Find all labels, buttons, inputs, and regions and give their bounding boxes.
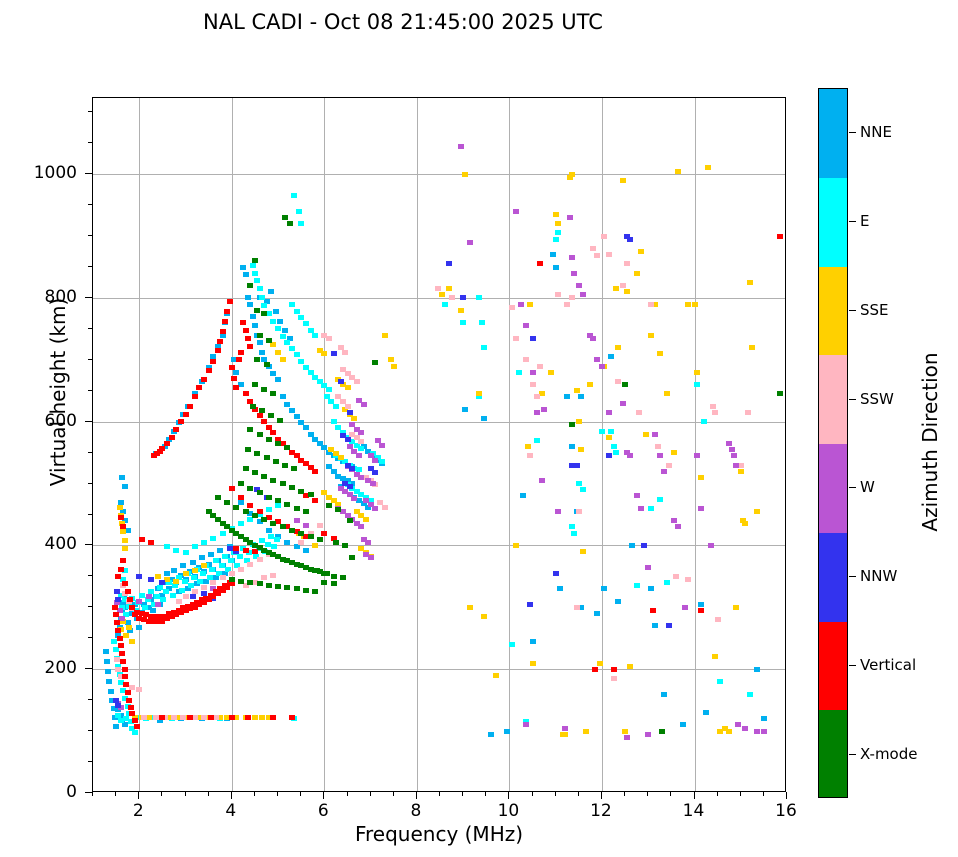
echo-pixel-x-mode — [266, 338, 272, 343]
echo-pixel-vertical — [159, 715, 165, 720]
echo-pixel-x-mode — [257, 581, 263, 586]
echo-pixel-sse — [363, 517, 369, 522]
echo-pixel-nne — [245, 295, 251, 300]
echo-pixel-sse — [726, 729, 732, 734]
echo-pixel-ssw — [606, 252, 612, 257]
echo-pixel-vertical — [122, 667, 128, 672]
echo-pixel-e — [170, 593, 176, 598]
colorbar-label-vertical: Vertical — [860, 656, 916, 674]
echo-pixel-ssw — [685, 577, 691, 582]
echo-pixel-w — [634, 493, 640, 498]
echo-pixel-x-mode — [270, 478, 276, 483]
echo-pixel-vertical — [206, 368, 212, 373]
echo-pixel-sse — [742, 521, 748, 526]
echo-pixel-nne — [190, 560, 196, 565]
echo-pixel-nne — [289, 408, 295, 413]
echo-pixel-sse — [280, 357, 286, 362]
echo-pixel-vertical — [222, 319, 228, 324]
echo-pixel-e — [553, 237, 559, 242]
echo-pixel-w — [361, 402, 367, 407]
echo-pixel-x-mode — [229, 577, 235, 582]
echo-pixel-vertical — [120, 558, 126, 563]
echo-pixel-nne — [481, 416, 487, 421]
echo-pixel-nnw — [666, 623, 672, 628]
echo-pixel-nne — [754, 667, 760, 672]
echo-pixel-nnw — [460, 295, 466, 300]
echo-pixel-ssw — [576, 509, 582, 514]
echo-pixel-ssw — [655, 444, 661, 449]
echo-pixel-x-mode — [254, 308, 260, 313]
echo-pixel-vertical — [134, 724, 140, 729]
echo-pixel-vertical — [257, 413, 263, 418]
echo-pixel-e — [326, 387, 332, 392]
y-tick-minor — [88, 328, 92, 329]
echo-pixel-nne — [326, 464, 332, 469]
echo-pixel-e — [571, 531, 577, 536]
echo-pixel-e — [228, 558, 234, 563]
echo-pixel-w — [729, 447, 735, 452]
echo-pixel-nnw — [347, 410, 353, 415]
echo-pixel-w — [645, 732, 651, 737]
x-tick-minor — [370, 792, 371, 796]
echo-pixel-vertical — [120, 659, 126, 664]
echo-pixel-w — [708, 543, 714, 548]
echo-pixel-sse — [183, 571, 189, 576]
echo-pixel-x-mode — [287, 221, 293, 226]
echo-pixel-x-mode — [257, 333, 263, 338]
echo-pixel-nne — [208, 552, 214, 557]
echo-pixel-x-mode — [224, 500, 230, 505]
echo-pixel-x-mode — [622, 382, 628, 387]
colorbar-tick — [849, 754, 856, 755]
echo-pixel-nne — [217, 548, 223, 553]
echo-pixel-w — [694, 453, 700, 458]
echo-pixel-vertical — [126, 698, 132, 703]
echo-pixel-x-mode — [247, 580, 253, 585]
echo-pixel-ssw — [530, 382, 536, 387]
echo-pixel-nnw — [574, 463, 580, 468]
colorbar-tick — [849, 576, 856, 577]
echo-pixel-sse — [692, 302, 698, 307]
echo-pixel-vertical — [159, 446, 165, 451]
echo-pixel-ssw — [601, 234, 607, 239]
colorbar-segment-nne — [819, 89, 847, 178]
echo-pixel-nne — [520, 493, 526, 498]
echo-pixel-w — [606, 410, 612, 415]
echo-pixel-w — [518, 302, 524, 307]
echo-pixel-e — [280, 334, 286, 339]
echo-pixel-ssw — [342, 350, 348, 355]
echo-pixel-ssw — [358, 439, 364, 444]
echo-pixel-nne — [629, 543, 635, 548]
echo-pixel-vertical — [245, 336, 251, 341]
echo-pixel-nne — [557, 586, 563, 591]
echo-pixel-vertical — [312, 498, 318, 503]
echo-pixel-x-mode — [331, 574, 337, 579]
echo-pixel-x-mode — [294, 506, 300, 511]
echo-pixel-x-mode — [270, 521, 276, 526]
echo-pixel-w — [726, 441, 732, 446]
echo-pixel-sse — [155, 574, 161, 579]
echo-pixel-sse — [530, 661, 536, 666]
echo-pixel-sse — [467, 605, 473, 610]
echo-pixel-x-mode — [303, 588, 309, 593]
echo-pixel-x-mode — [289, 528, 295, 533]
echo-pixel-vertical — [122, 674, 128, 679]
echo-pixel-x-mode — [326, 503, 332, 508]
echo-pixel-e — [379, 459, 385, 464]
echo-pixel-w — [698, 506, 704, 511]
y-tick-minor — [88, 730, 92, 731]
echo-pixel-e — [274, 537, 280, 542]
echo-pixel-vertical — [592, 667, 598, 672]
echo-pixel-vertical — [129, 711, 135, 716]
colorbar-tick — [849, 221, 856, 222]
echo-pixel-w — [735, 722, 741, 727]
echo-pixel-vertical — [537, 261, 543, 266]
echo-pixel-vertical — [220, 329, 226, 334]
echo-pixel-ssw — [624, 261, 630, 266]
echo-pixel-ssw — [435, 286, 441, 291]
page-title: NAL CADI - Oct 08 21:45:00 2025 UTC — [0, 10, 806, 34]
echo-pixel-e — [358, 446, 364, 451]
echo-pixel-w — [594, 357, 600, 362]
echo-pixel-vertical — [118, 567, 124, 572]
x-tick-minor — [115, 792, 116, 796]
echo-pixel-nne — [488, 732, 494, 737]
echo-pixel-e — [238, 521, 244, 526]
echo-pixel-ssw — [537, 364, 543, 369]
echo-pixel-x-mode — [312, 589, 318, 594]
echo-pixel-sse — [481, 614, 487, 619]
echo-pixel-e — [569, 524, 575, 529]
echo-pixel-ssw — [534, 394, 540, 399]
echo-pixel-ssw — [298, 540, 304, 545]
echo-pixel-vertical — [113, 612, 119, 617]
echo-pixel-sse — [622, 729, 628, 734]
echo-pixel-vertical — [243, 548, 249, 553]
echo-pixel-vertical — [238, 495, 244, 500]
echo-pixel-vertical — [233, 546, 239, 551]
x-tick-major — [416, 792, 417, 799]
echo-pixel-x-mode — [298, 489, 304, 494]
echo-pixel-ssw — [115, 667, 121, 672]
echo-pixel-sse — [345, 385, 351, 390]
echo-pixel-vertical — [119, 651, 125, 656]
echo-pixel-x-mode — [777, 391, 783, 396]
echo-pixel-e — [209, 567, 215, 572]
echo-pixel-sse — [382, 333, 388, 338]
echo-pixel-w — [675, 524, 681, 529]
x-tick-minor — [208, 792, 209, 796]
echo-pixel-vertical — [243, 391, 249, 396]
echo-pixel-sse — [553, 212, 559, 217]
x-tick-label: 6 — [293, 801, 353, 821]
echo-pixel-w — [638, 506, 644, 511]
y-tick-major — [85, 297, 92, 298]
echo-pixel-x-mode — [247, 427, 253, 432]
echo-pixel-ssw — [210, 580, 216, 585]
echo-pixel-vertical — [132, 718, 138, 723]
echo-pixel-w — [754, 729, 760, 734]
echo-pixel-nnw — [115, 703, 121, 708]
echo-pixel-e — [331, 419, 337, 424]
echo-pixel-sse — [576, 419, 582, 424]
echo-pixel-x-mode — [303, 509, 309, 514]
x-tick-label: 10 — [478, 801, 538, 821]
echo-pixel-x-mode — [294, 586, 300, 591]
echo-pixel-sse — [126, 625, 132, 630]
echo-pixel-nne — [104, 659, 110, 664]
echo-pixel-nne — [594, 611, 600, 616]
echo-pixel-nne — [652, 623, 658, 628]
echo-pixel-x-mode — [264, 362, 270, 367]
echo-pixel-e — [182, 579, 188, 584]
echo-pixel-sse — [615, 345, 621, 350]
echo-pixel-nne — [266, 528, 272, 533]
echo-pixel-nne — [569, 444, 575, 449]
echo-pixel-sse — [733, 605, 739, 610]
echo-pixel-ssw — [247, 562, 253, 567]
x-tick-label: 2 — [108, 801, 168, 821]
echo-pixel-e — [250, 263, 256, 268]
echo-pixel-x-mode — [247, 283, 253, 288]
echo-pixel-w — [358, 524, 364, 529]
echo-pixel-x-mode — [261, 387, 267, 392]
echo-pixel-nne — [268, 289, 274, 294]
echo-pixel-x-mode — [243, 466, 249, 471]
colorbar-label-ssw: SSW — [860, 390, 894, 408]
echo-pixel-x-mode — [238, 481, 244, 486]
echo-pixel-sse — [613, 286, 619, 291]
echo-pixel-nne — [122, 484, 128, 489]
echo-pixel-nnw — [114, 589, 120, 594]
echo-pixel-vertical — [123, 682, 129, 687]
x-tick-minor — [439, 792, 440, 796]
echo-pixel-vertical — [122, 581, 128, 586]
echo-pixel-sse — [657, 351, 663, 356]
echo-pixel-sse — [664, 391, 670, 396]
echo-pixel-nne — [113, 724, 119, 729]
echo-pixel-e — [599, 429, 605, 434]
echo-pixel-nne — [564, 394, 570, 399]
colorbar-label-x-mode: X-mode — [860, 745, 917, 763]
echo-pixel-nne — [578, 394, 584, 399]
echo-pixel-sse — [698, 475, 704, 480]
echo-pixel-sse — [555, 221, 561, 226]
echo-pixel-e — [197, 579, 203, 584]
echo-pixel-x-mode — [372, 360, 378, 365]
echo-pixel-e — [481, 345, 487, 350]
echo-pixel-ssw — [712, 410, 718, 415]
echo-pixel-e — [289, 346, 295, 351]
echo-pixel-vertical — [192, 394, 198, 399]
echo-pixel-nne — [698, 602, 704, 607]
y-tick-minor — [88, 483, 92, 484]
echo-pixel-w — [657, 453, 663, 458]
echo-pixel-nne — [331, 469, 337, 474]
echo-pixel-x-mode — [569, 422, 575, 427]
echo-pixel-sse — [578, 447, 584, 452]
echo-pixel-vertical — [227, 299, 233, 304]
echo-pixel-w — [155, 602, 161, 607]
y-tick-minor — [88, 452, 92, 453]
echo-pixel-x-mode — [308, 492, 314, 497]
echo-pixel-w — [358, 475, 364, 480]
echo-pixel-x-mode — [289, 485, 295, 490]
echo-pixel-sse — [747, 280, 753, 285]
echo-pixel-vertical — [173, 427, 179, 432]
echo-pixel-e — [275, 326, 281, 331]
echo-pixel-nnw — [331, 351, 337, 356]
echo-pixel-ssw — [449, 295, 455, 300]
colorbar — [818, 88, 848, 798]
echo-pixel-e — [664, 580, 670, 585]
echo-pixel-nne — [250, 314, 256, 319]
scatter-data — [93, 98, 785, 791]
echo-pixel-e — [634, 583, 640, 588]
echo-pixel-nne — [530, 639, 536, 644]
y-tick-minor — [88, 266, 92, 267]
echo-pixel-e — [303, 321, 309, 326]
echo-pixel-e — [191, 575, 197, 580]
y-tick-major — [85, 792, 92, 793]
y-tick-minor — [88, 142, 92, 143]
echo-pixel-w — [562, 726, 568, 731]
echo-pixel-w — [567, 215, 573, 220]
echo-pixel-x-mode — [261, 311, 267, 316]
echo-pixel-w — [294, 518, 300, 523]
echo-pixel-e — [257, 286, 263, 291]
echo-pixel-nne — [108, 689, 114, 694]
echo-pixel-e — [294, 309, 300, 314]
echo-pixel-x-mode — [266, 495, 272, 500]
echo-pixel-sse — [574, 388, 580, 393]
echo-pixel-sse — [446, 286, 452, 291]
echo-pixel-nne — [243, 272, 249, 277]
echo-pixel-e — [312, 333, 318, 338]
echo-pixel-nne — [257, 340, 263, 345]
echo-pixel-vertical — [187, 715, 193, 720]
echo-pixel-nne — [247, 302, 253, 307]
echo-pixel-sse — [648, 333, 654, 338]
y-tick-minor — [88, 699, 92, 700]
echo-pixel-x-mode — [347, 518, 353, 523]
echo-pixel-sse — [129, 639, 135, 644]
echo-pixel-w — [539, 478, 545, 483]
echo-pixel-vertical — [178, 419, 184, 424]
echo-pixel-vertical — [233, 385, 239, 390]
echo-pixel-vertical — [698, 608, 704, 613]
echo-pixel-x-mode — [252, 258, 258, 263]
echo-pixel-nne — [105, 669, 111, 674]
echo-pixel-x-mode — [284, 502, 290, 507]
colorbar-tick — [849, 399, 856, 400]
echo-pixel-e — [608, 429, 614, 434]
echo-pixel-nne — [284, 402, 290, 407]
x-axis-title: Frequency (MHz) — [92, 822, 786, 846]
echo-pixel-sse — [388, 357, 394, 362]
x-tick-minor — [717, 792, 718, 796]
x-tick-minor — [347, 792, 348, 796]
echo-pixel-x-mode — [342, 543, 348, 548]
echo-pixel-e — [219, 563, 225, 568]
echo-pixel-w — [661, 469, 667, 474]
x-tick-minor — [670, 792, 671, 796]
echo-pixel-w — [742, 726, 748, 731]
echo-pixel-ssw — [710, 404, 716, 409]
y-tick-minor — [88, 390, 92, 391]
echo-pixel-sse — [627, 664, 633, 669]
echo-pixel-sse — [321, 351, 327, 356]
echo-pixel-sse — [439, 292, 445, 297]
x-tick-minor — [763, 792, 764, 796]
echo-pixel-ssw — [513, 336, 519, 341]
echo-pixel-sse — [754, 509, 760, 514]
echo-pixel-nne — [150, 608, 156, 613]
echo-pixel-ssw — [555, 292, 561, 297]
echo-pixel-w — [368, 555, 374, 560]
echo-pixel-w — [620, 401, 626, 406]
echo-pixel-nnw — [553, 571, 559, 576]
echo-pixel-x-mode — [254, 451, 260, 456]
echo-pixel-e — [291, 193, 297, 198]
x-tick-major — [601, 792, 602, 799]
echo-pixel-w — [372, 506, 378, 511]
echo-pixel-e — [220, 531, 226, 536]
echo-pixel-e — [183, 550, 189, 555]
echo-pixel-sse — [476, 391, 482, 396]
echo-pixel-x-mode — [349, 555, 355, 560]
echo-pixel-vertical — [112, 605, 118, 610]
echo-pixel-w — [379, 443, 385, 448]
echo-pixel-nnw — [136, 574, 142, 579]
echo-pixel-vertical — [236, 357, 242, 362]
echo-pixel-vertical — [229, 715, 235, 720]
echo-pixel-vertical — [777, 234, 783, 239]
echo-pixel-x-mode — [252, 470, 258, 475]
echo-pixel-e — [265, 542, 271, 547]
echo-pixel-ssw — [574, 605, 580, 610]
echo-pixel-sse — [671, 450, 677, 455]
echo-pixel-sse — [562, 732, 568, 737]
echo-pixel-vertical — [183, 412, 189, 417]
echo-pixel-sse — [259, 715, 265, 720]
echo-pixel-w — [458, 144, 464, 149]
echo-pixel-x-mode — [298, 531, 304, 536]
echo-pixel-ssw — [715, 617, 721, 622]
x-tick-minor — [161, 792, 162, 796]
echo-pixel-e — [259, 295, 265, 300]
echo-pixel-sse — [123, 633, 129, 638]
echo-pixel-sse — [638, 249, 644, 254]
echo-pixel-sse — [173, 579, 179, 584]
echo-pixel-sse — [527, 302, 533, 307]
echo-pixel-e — [613, 450, 619, 455]
colorbar-label-nnw: NNW — [860, 567, 897, 585]
echo-pixel-ssw — [611, 676, 617, 681]
colorbar-segment-vertical — [819, 622, 847, 711]
echo-pixel-sse — [620, 178, 626, 183]
echo-pixel-nnw — [372, 470, 378, 475]
echo-pixel-sse — [525, 444, 531, 449]
echo-pixel-ssw — [527, 453, 533, 458]
echo-pixel-w — [534, 410, 540, 415]
echo-pixel-w — [624, 735, 630, 740]
echo-pixel-x-mode — [238, 579, 244, 584]
echo-pixel-vertical — [208, 715, 214, 720]
echo-pixel-w — [590, 336, 596, 341]
